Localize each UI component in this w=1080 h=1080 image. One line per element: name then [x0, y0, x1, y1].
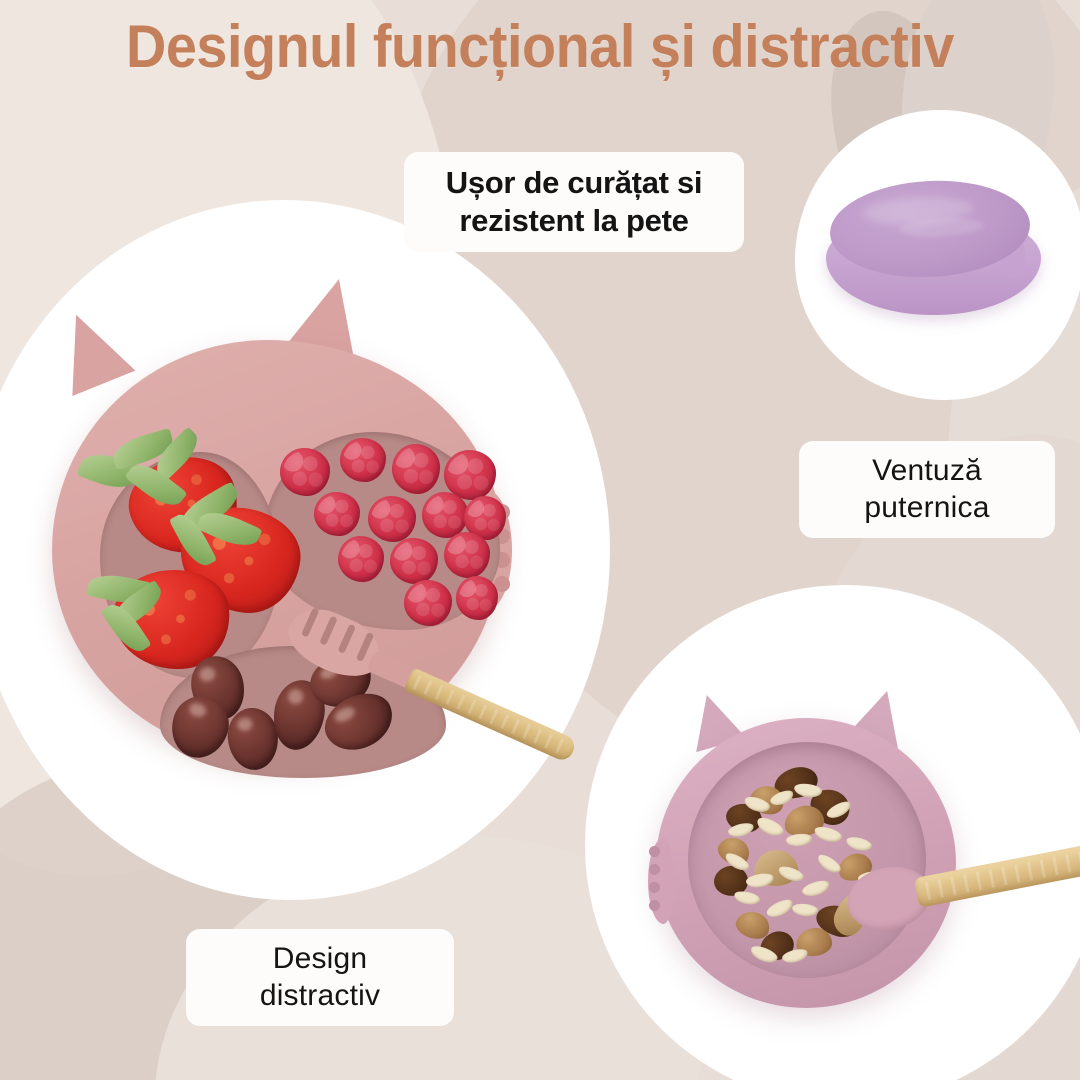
- oat-flake: [785, 833, 812, 848]
- raspberry: [392, 444, 440, 494]
- oat-flake: [765, 897, 796, 921]
- callout-easy-clean-line1: Ușor de curățat si: [424, 164, 724, 202]
- suction-base-photo: [820, 175, 1060, 335]
- bowl-paw-tab: [648, 838, 674, 924]
- raspberry: [404, 580, 452, 626]
- callout-easy-clean-line2: rezistent la pete: [424, 202, 724, 240]
- cat-bowl-photo: [648, 690, 1068, 1080]
- plate-ear-left: [45, 302, 136, 396]
- callout-strong-suction-line1: Ventuză: [819, 453, 1035, 490]
- oat-flake: [745, 872, 775, 890]
- raspberry: [422, 492, 468, 538]
- fork-tine: [338, 624, 357, 654]
- callout-strong-suction: Ventuză puternica: [799, 441, 1055, 538]
- raspberry: [340, 438, 386, 482]
- raspberry: [314, 492, 360, 536]
- callout-strong-suction-line2: puternica: [819, 490, 1035, 527]
- raspberry: [456, 576, 498, 620]
- spoon-bamboo-handle: [914, 842, 1080, 908]
- raspberry: [444, 532, 490, 578]
- promo-graphic: Designul funcțional și distractiv: [0, 0, 1080, 1080]
- fork-tine: [301, 607, 320, 637]
- oat-flake: [733, 889, 761, 906]
- raspberry: [368, 496, 416, 542]
- bowl-body: [656, 718, 956, 1008]
- fork-tine: [319, 615, 338, 645]
- raspberry: [390, 538, 438, 584]
- callout-fun-design-line2: distractiv: [206, 978, 434, 1015]
- oat-flake: [754, 815, 785, 840]
- callout-fun-design: Design distractiv: [186, 929, 454, 1026]
- plate-body: [52, 340, 502, 760]
- page-title: Designul funcțional și distractiv: [38, 12, 1042, 81]
- callout-fun-design-line1: Design: [206, 941, 434, 978]
- oat-flake: [813, 824, 843, 844]
- oat-flake: [791, 903, 818, 918]
- oat-flake: [845, 835, 873, 853]
- oat-flake: [801, 878, 832, 899]
- bowl-interior: [688, 742, 926, 978]
- callout-easy-clean: Ușor de curățat si rezistent la pete: [404, 152, 744, 252]
- raspberry: [280, 448, 330, 496]
- cat-plate-photo: [28, 282, 648, 752]
- raspberry: [338, 536, 384, 582]
